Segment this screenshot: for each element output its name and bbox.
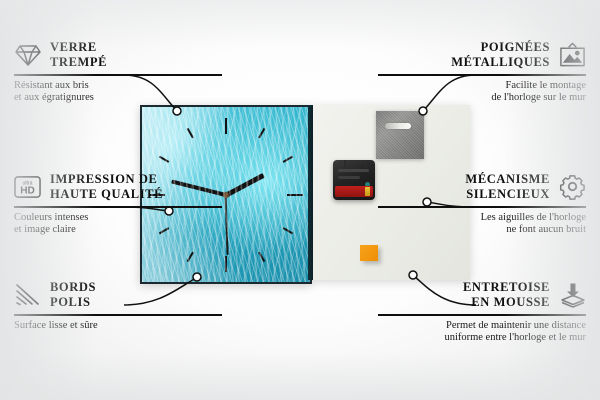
feature-header: MÉCANISME SILENCIEUX — [378, 172, 586, 201]
feature-poignees-metalliques: POIGNÉES MÉTALLIQUES Facilite le montage… — [378, 40, 586, 105]
tick-10 — [159, 155, 170, 162]
feature-header: BORDS POLIS — [14, 280, 222, 309]
gear-icon — [559, 173, 586, 200]
feature-description: Surface lisse et sûre — [14, 320, 222, 333]
metal-hanger-plate — [376, 111, 424, 159]
mechanism-hook — [344, 160, 367, 167]
feature-title: VERRE TREMPÉ — [50, 40, 107, 69]
hour-hand — [225, 173, 264, 197]
divider — [378, 74, 586, 76]
hands-center-cap — [223, 192, 229, 198]
picture-hanger-icon — [559, 41, 586, 68]
infographic-canvas: VERRE TREMPÉ Résistant aux bris et aux é… — [0, 0, 600, 400]
feature-header: VERRE TREMPÉ — [14, 40, 222, 69]
feature-header: ultra HD IMPRESSION DE HAUTE QUALITÉ — [14, 172, 222, 201]
divider — [378, 206, 586, 208]
tick-4 — [283, 227, 294, 234]
tick-7 — [187, 251, 194, 262]
tick-2 — [283, 155, 294, 162]
feature-entretoise-en-mousse: ENTRETOISE EN MOUSSE Permet de maintenir… — [378, 280, 586, 345]
tick-6 — [225, 256, 227, 272]
feature-description: Facilite le montage de l'horloge sur le … — [378, 80, 586, 105]
second-hand — [225, 194, 229, 254]
tick-11 — [187, 127, 194, 138]
tick-5 — [258, 251, 265, 262]
feature-header: ENTRETOISE EN MOUSSE — [378, 280, 586, 309]
feature-bords-polis: BORDS POLIS Surface lisse et sûre — [14, 280, 222, 332]
divider — [14, 206, 222, 208]
feature-title: IMPRESSION DE HAUTE QUALITÉ — [50, 172, 163, 201]
feature-description: Permet de maintenir une distance uniform… — [378, 320, 586, 345]
foam-spacer-press-icon — [559, 281, 586, 308]
ultra-hd-badge-icon: ultra HD — [14, 173, 41, 200]
divider — [14, 74, 222, 76]
quartz-mechanism-box — [333, 160, 375, 200]
feature-mecanisme-silencieux: MÉCANISME SILENCIEUX Les aiguilles de l'… — [378, 172, 586, 237]
feature-title: ENTRETOISE EN MOUSSE — [463, 280, 550, 309]
foam-spacer — [360, 245, 378, 261]
feature-verre-trempe: VERRE TREMPÉ Résistant aux bris et aux é… — [14, 40, 222, 105]
feature-impression-haute-qualite: ultra HD IMPRESSION DE HAUTE QUALITÉ Cou… — [14, 172, 222, 237]
diamond-icon — [14, 41, 41, 68]
feature-description: Les aiguilles de l'horloge ne font aucun… — [378, 212, 586, 237]
mechanism-slot-2 — [338, 176, 360, 179]
polished-edges-icon — [14, 281, 41, 308]
battery-label — [335, 186, 373, 197]
svg-text:HD: HD — [20, 185, 35, 196]
feature-title: MÉCANISME SILENCIEUX — [465, 172, 550, 201]
divider — [378, 314, 586, 316]
feature-description: Couleurs intenses et image claire — [14, 212, 222, 237]
feature-title: POIGNÉES MÉTALLIQUES — [451, 40, 550, 69]
mechanism-slot-1 — [338, 169, 369, 172]
feature-title: BORDS POLIS — [50, 280, 96, 309]
tick-1 — [258, 127, 265, 138]
feature-header: POIGNÉES MÉTALLIQUES — [378, 40, 586, 69]
tick-12 — [225, 118, 227, 134]
tick-3 — [287, 194, 303, 196]
divider — [14, 314, 222, 316]
feature-description: Résistant aux bris et aux égratignures — [14, 80, 222, 105]
